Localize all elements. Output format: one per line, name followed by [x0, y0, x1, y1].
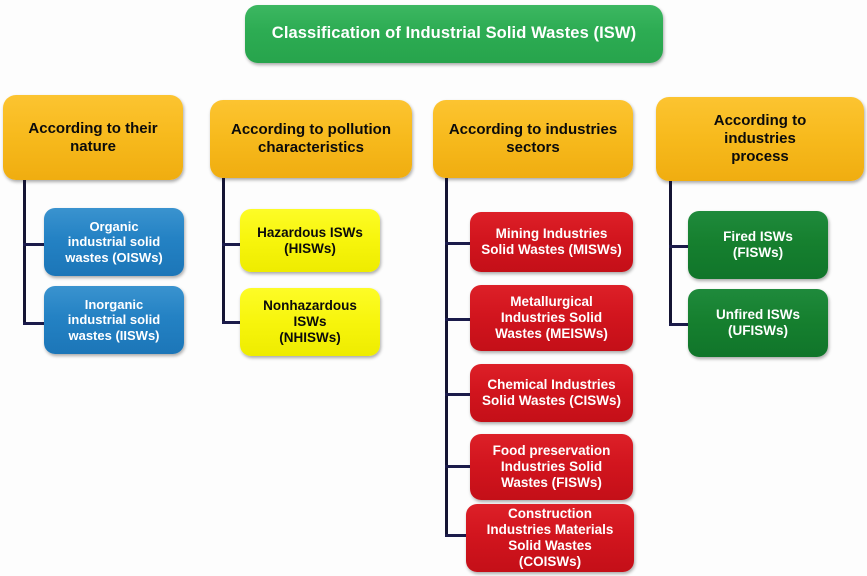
connector-branch-3-child-4 — [445, 465, 472, 468]
connector-trunk-branch-1 — [23, 180, 26, 325]
node-chemical-industries-solid-wastes[interactable]: Chemical Industries Solid Wastes (CISWs) — [470, 364, 633, 422]
classification-diagram: Classification of Industrial Solid Waste… — [0, 0, 867, 576]
connector-trunk-branch-2 — [222, 178, 225, 324]
node-metallurgical-industries-solid-wastes[interactable]: Metallurgical Industries Solid Wastes (M… — [470, 285, 633, 351]
connector-branch-1-child-1 — [23, 243, 45, 246]
node-nonhazardous-isws[interactable]: Nonhazardous ISWs (NHISWs) — [240, 288, 380, 356]
connector-trunk-branch-4 — [669, 181, 672, 326]
branch-header-according-to-pollution-characteristics[interactable]: According to pollution characteristics — [210, 100, 412, 178]
node-mining-industries-solid-wastes[interactable]: Mining Industries Solid Wastes (MISWs) — [470, 212, 633, 272]
node-unfired-isws[interactable]: Unfired ISWs (UFISWs) — [688, 289, 828, 357]
connector-branch-3-child-2 — [445, 318, 472, 321]
node-hazardous-isws[interactable]: Hazardous ISWs (HISWs) — [240, 209, 380, 272]
diagram-title-node: Classification of Industrial Solid Waste… — [245, 5, 663, 63]
connector-branch-1-child-2 — [23, 322, 45, 325]
branch-header-according-to-their-nature[interactable]: According to their nature — [3, 95, 183, 180]
node-inorganic-industrial-solid-wastes[interactable]: Inorganic industrial solid wastes (IISWs… — [44, 286, 184, 354]
branch-header-according-to-industries-sectors[interactable]: According to industries sectors — [433, 100, 633, 178]
branch-header-according-to-industries-process[interactable]: According to industries process — [656, 97, 864, 181]
node-food-preservation-industries-solid-wastes[interactable]: Food preservation Industries Solid Waste… — [470, 434, 633, 500]
node-construction-industries-materials-solid-wastes[interactable]: Construction Industries Materials Solid … — [466, 504, 634, 572]
connector-trunk-branch-3 — [445, 178, 448, 536]
connector-branch-3-child-3 — [445, 393, 472, 396]
node-fired-isws[interactable]: Fired ISWs (FISWs) — [688, 211, 828, 279]
node-organic-industrial-solid-wastes[interactable]: Organic industrial solid wastes (OISWs) — [44, 208, 184, 276]
connector-branch-3-child-1 — [445, 242, 472, 245]
